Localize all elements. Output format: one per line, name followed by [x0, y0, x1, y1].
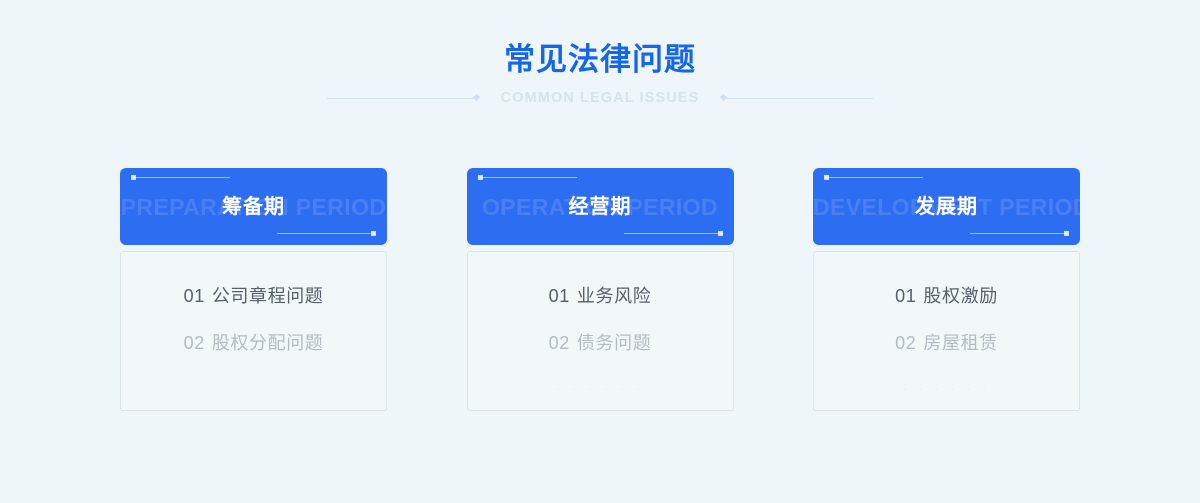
- stage-card-header[interactable]: DEVELOPMENT PERIOD 发展期: [813, 168, 1080, 245]
- list-item[interactable]: 02房屋租赁: [814, 331, 1079, 355]
- page-root: 常见法律问题 COMMON LEGAL ISSUES PREPARATION P…: [0, 0, 1200, 503]
- card-list: PREPARATION PERIOD 筹备期 01公司章程问题 02股权分配问题: [120, 168, 1080, 411]
- header-deco-line-bottom: [624, 233, 722, 234]
- list-item[interactable]: 01业务风险: [468, 284, 733, 308]
- item-number: 01: [184, 286, 205, 306]
- subtitle-row: COMMON LEGAL ISSUES: [0, 89, 1200, 107]
- decorative-rule-right: [723, 98, 873, 99]
- list-item[interactable]: 01公司章程问题: [121, 284, 386, 308]
- stage-title: 经营期: [569, 194, 632, 220]
- item-number: 02: [184, 333, 205, 353]
- stage-card-header[interactable]: OPERATION PERIOD 经营期: [467, 168, 734, 245]
- header-deco-line-top: [132, 177, 230, 178]
- stage-card-preparation[interactable]: PREPARATION PERIOD 筹备期 01公司章程问题 02股权分配问题: [120, 168, 387, 411]
- diamond-icon: [720, 94, 727, 101]
- stage-title: 筹备期: [222, 194, 285, 220]
- item-label: 债务问题: [577, 333, 651, 353]
- decorative-rule-left: [327, 98, 477, 99]
- section-heading: 常见法律问题 COMMON LEGAL ISSUES: [0, 40, 1200, 107]
- diamond-icon: [473, 94, 480, 101]
- item-number: 02: [895, 333, 916, 353]
- page-subtitle: COMMON LEGAL ISSUES: [483, 89, 718, 107]
- header-deco-line-bottom: [277, 233, 375, 234]
- list-item-faint-marker: · · · · · ·: [468, 377, 733, 401]
- header-deco-line-top: [479, 177, 577, 178]
- item-number: 02: [549, 333, 570, 353]
- stage-title: 发展期: [915, 194, 978, 220]
- list-item-faint-marker: · · · · · ·: [814, 377, 1079, 401]
- header-deco-line-bottom: [970, 233, 1068, 234]
- list-item[interactable]: 02股权分配问题: [121, 331, 386, 355]
- item-number: 01: [895, 286, 916, 306]
- square-node-icon: [718, 231, 723, 236]
- square-node-icon: [824, 175, 829, 180]
- stage-card-development[interactable]: DEVELOPMENT PERIOD 发展期 01股权激励 02房屋租赁 · ·…: [813, 168, 1080, 411]
- list-item[interactable]: 02债务问题: [468, 331, 733, 355]
- header-deco-line-top: [825, 177, 923, 178]
- item-label: 公司章程问题: [212, 286, 324, 306]
- item-label: 股权分配问题: [212, 333, 324, 353]
- stage-card-body: 01公司章程问题 02股权分配问题: [120, 251, 387, 411]
- square-node-icon: [1064, 231, 1069, 236]
- page-title: 常见法律问题: [0, 40, 1200, 80]
- square-node-icon: [371, 231, 376, 236]
- square-node-icon: [131, 175, 136, 180]
- stage-card-operation[interactable]: OPERATION PERIOD 经营期 01业务风险 02债务问题 · · ·…: [467, 168, 734, 411]
- stage-card-header[interactable]: PREPARATION PERIOD 筹备期: [120, 168, 387, 245]
- stage-card-body: 01业务风险 02债务问题 · · · · · ·: [467, 251, 734, 411]
- item-label: 房屋租赁: [923, 333, 997, 353]
- item-number: 01: [549, 286, 570, 306]
- stage-card-body: 01股权激励 02房屋租赁 · · · · · ·: [813, 251, 1080, 411]
- item-label: 业务风险: [577, 286, 651, 306]
- square-node-icon: [478, 175, 483, 180]
- item-label: 股权激励: [923, 286, 997, 306]
- list-item[interactable]: 01股权激励: [814, 284, 1079, 308]
